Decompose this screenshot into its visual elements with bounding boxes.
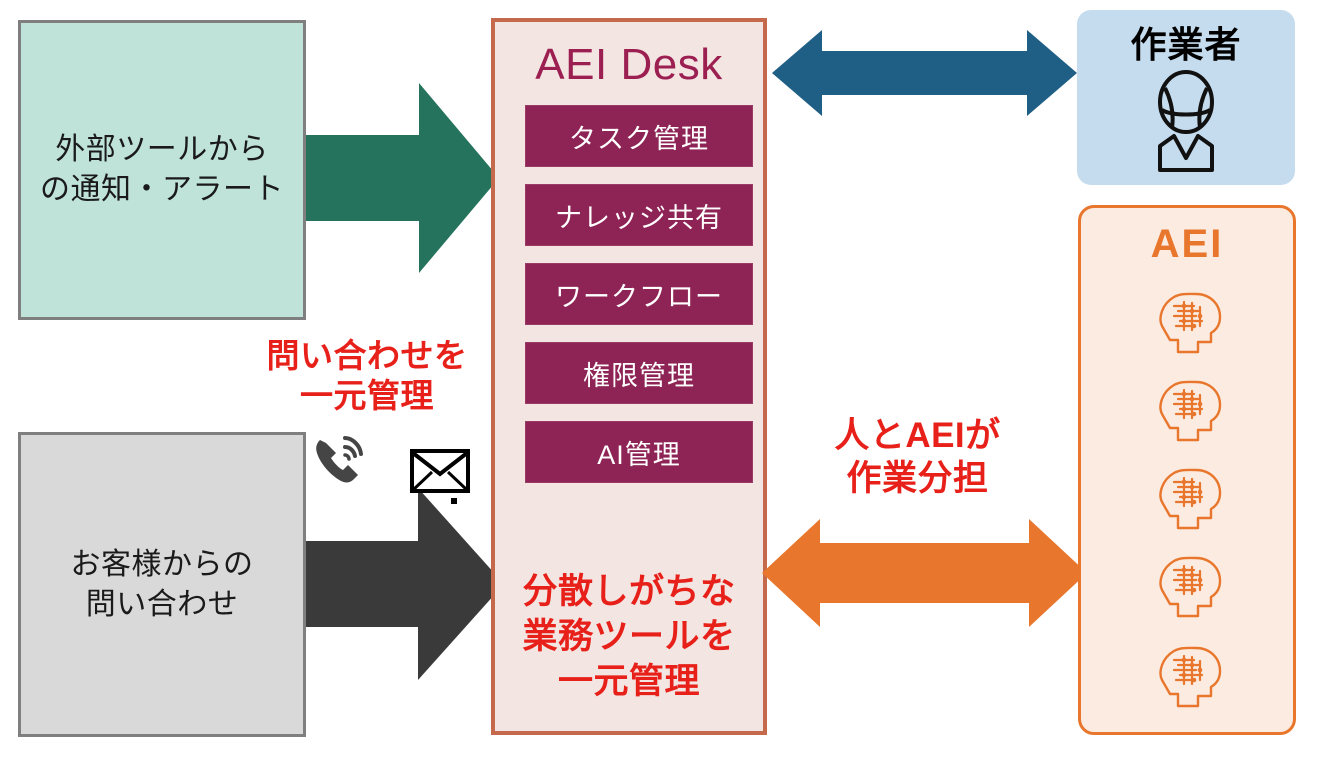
feature-chip-workflow[interactable]: ワークフロー (525, 263, 753, 325)
orange-double-arrow (762, 505, 1087, 630)
human-aei-split-note: 人とAEIが 作業分担 (790, 415, 1045, 500)
customer-inquiry-text: お客様からの 問い合わせ (71, 545, 254, 624)
customer-inquiry-line2: 問い合わせ (71, 585, 254, 625)
aei-desk-panel: AEI Desk タスク管理 ナレッジ共有 ワークフロー 権限管理 AI管理 分… (491, 18, 767, 735)
aei-desk-caption-line1: 分散しがちな (495, 570, 763, 615)
aei-desk-caption: 分散しがちな 業務ツールを 一元管理 (495, 570, 763, 704)
external-tools-text: 外部ツールから の通知・アラート (40, 130, 284, 209)
blue-double-arrow (772, 18, 1077, 128)
feature-chip-label: AI管理 (597, 433, 681, 472)
mail-icon (409, 448, 471, 499)
mail-dot-icon (451, 498, 457, 504)
ai-head-icon (1150, 374, 1224, 448)
person-icon (1138, 70, 1234, 179)
external-tools-line1: 外部ツールから (40, 130, 284, 170)
human-aei-split-line2: 作業分担 (790, 458, 1045, 501)
ai-head-icon (1150, 550, 1224, 624)
inquiry-unified-line2: 一元管理 (232, 376, 502, 416)
aei-panel-title: AEI (1081, 222, 1293, 267)
worker-label: 作業者 (1130, 16, 1241, 68)
feature-chip-label: 権限管理 (583, 354, 695, 393)
feature-chip-task-management[interactable]: タスク管理 (525, 105, 753, 167)
feature-chip-label: ナレッジ共有 (555, 196, 723, 235)
feature-chip-ai-management[interactable]: AI管理 (525, 421, 753, 483)
green-right-arrow (306, 78, 501, 278)
ai-head-icon (1150, 286, 1224, 360)
feature-chip-label: ワークフロー (555, 275, 723, 314)
aei-panel: AEI (1078, 205, 1296, 735)
worker-box: 作業者 (1077, 10, 1295, 185)
feature-chip-label: タスク管理 (569, 117, 709, 156)
ai-head-icon (1150, 462, 1224, 536)
aei-desk-caption-line2: 業務ツールを (495, 615, 763, 660)
customer-inquiry-line1: お客様からの (71, 545, 254, 585)
diagram-canvas: 外部ツールから の通知・アラート お客様からの 問い合わせ 問い合わせを 一元管… (0, 0, 1320, 762)
customer-inquiry-box: お客様からの 問い合わせ (18, 432, 306, 737)
phone-icon (310, 434, 370, 495)
external-tools-box: 外部ツールから の通知・アラート (18, 20, 306, 320)
inquiry-unified-line1: 問い合わせを (232, 336, 502, 376)
aei-desk-caption-line3: 一元管理 (495, 660, 763, 705)
inquiry-unified-note: 問い合わせを 一元管理 (232, 336, 502, 417)
human-aei-split-line1: 人とAEIが (790, 415, 1045, 458)
black-right-arrow (306, 484, 506, 684)
external-tools-line2: の通知・アラート (40, 170, 284, 210)
ai-head-icon (1150, 640, 1224, 714)
feature-chip-knowledge-sharing[interactable]: ナレッジ共有 (525, 184, 753, 246)
aei-desk-title: AEI Desk (495, 40, 763, 90)
feature-chip-permission-management[interactable]: 権限管理 (525, 342, 753, 404)
